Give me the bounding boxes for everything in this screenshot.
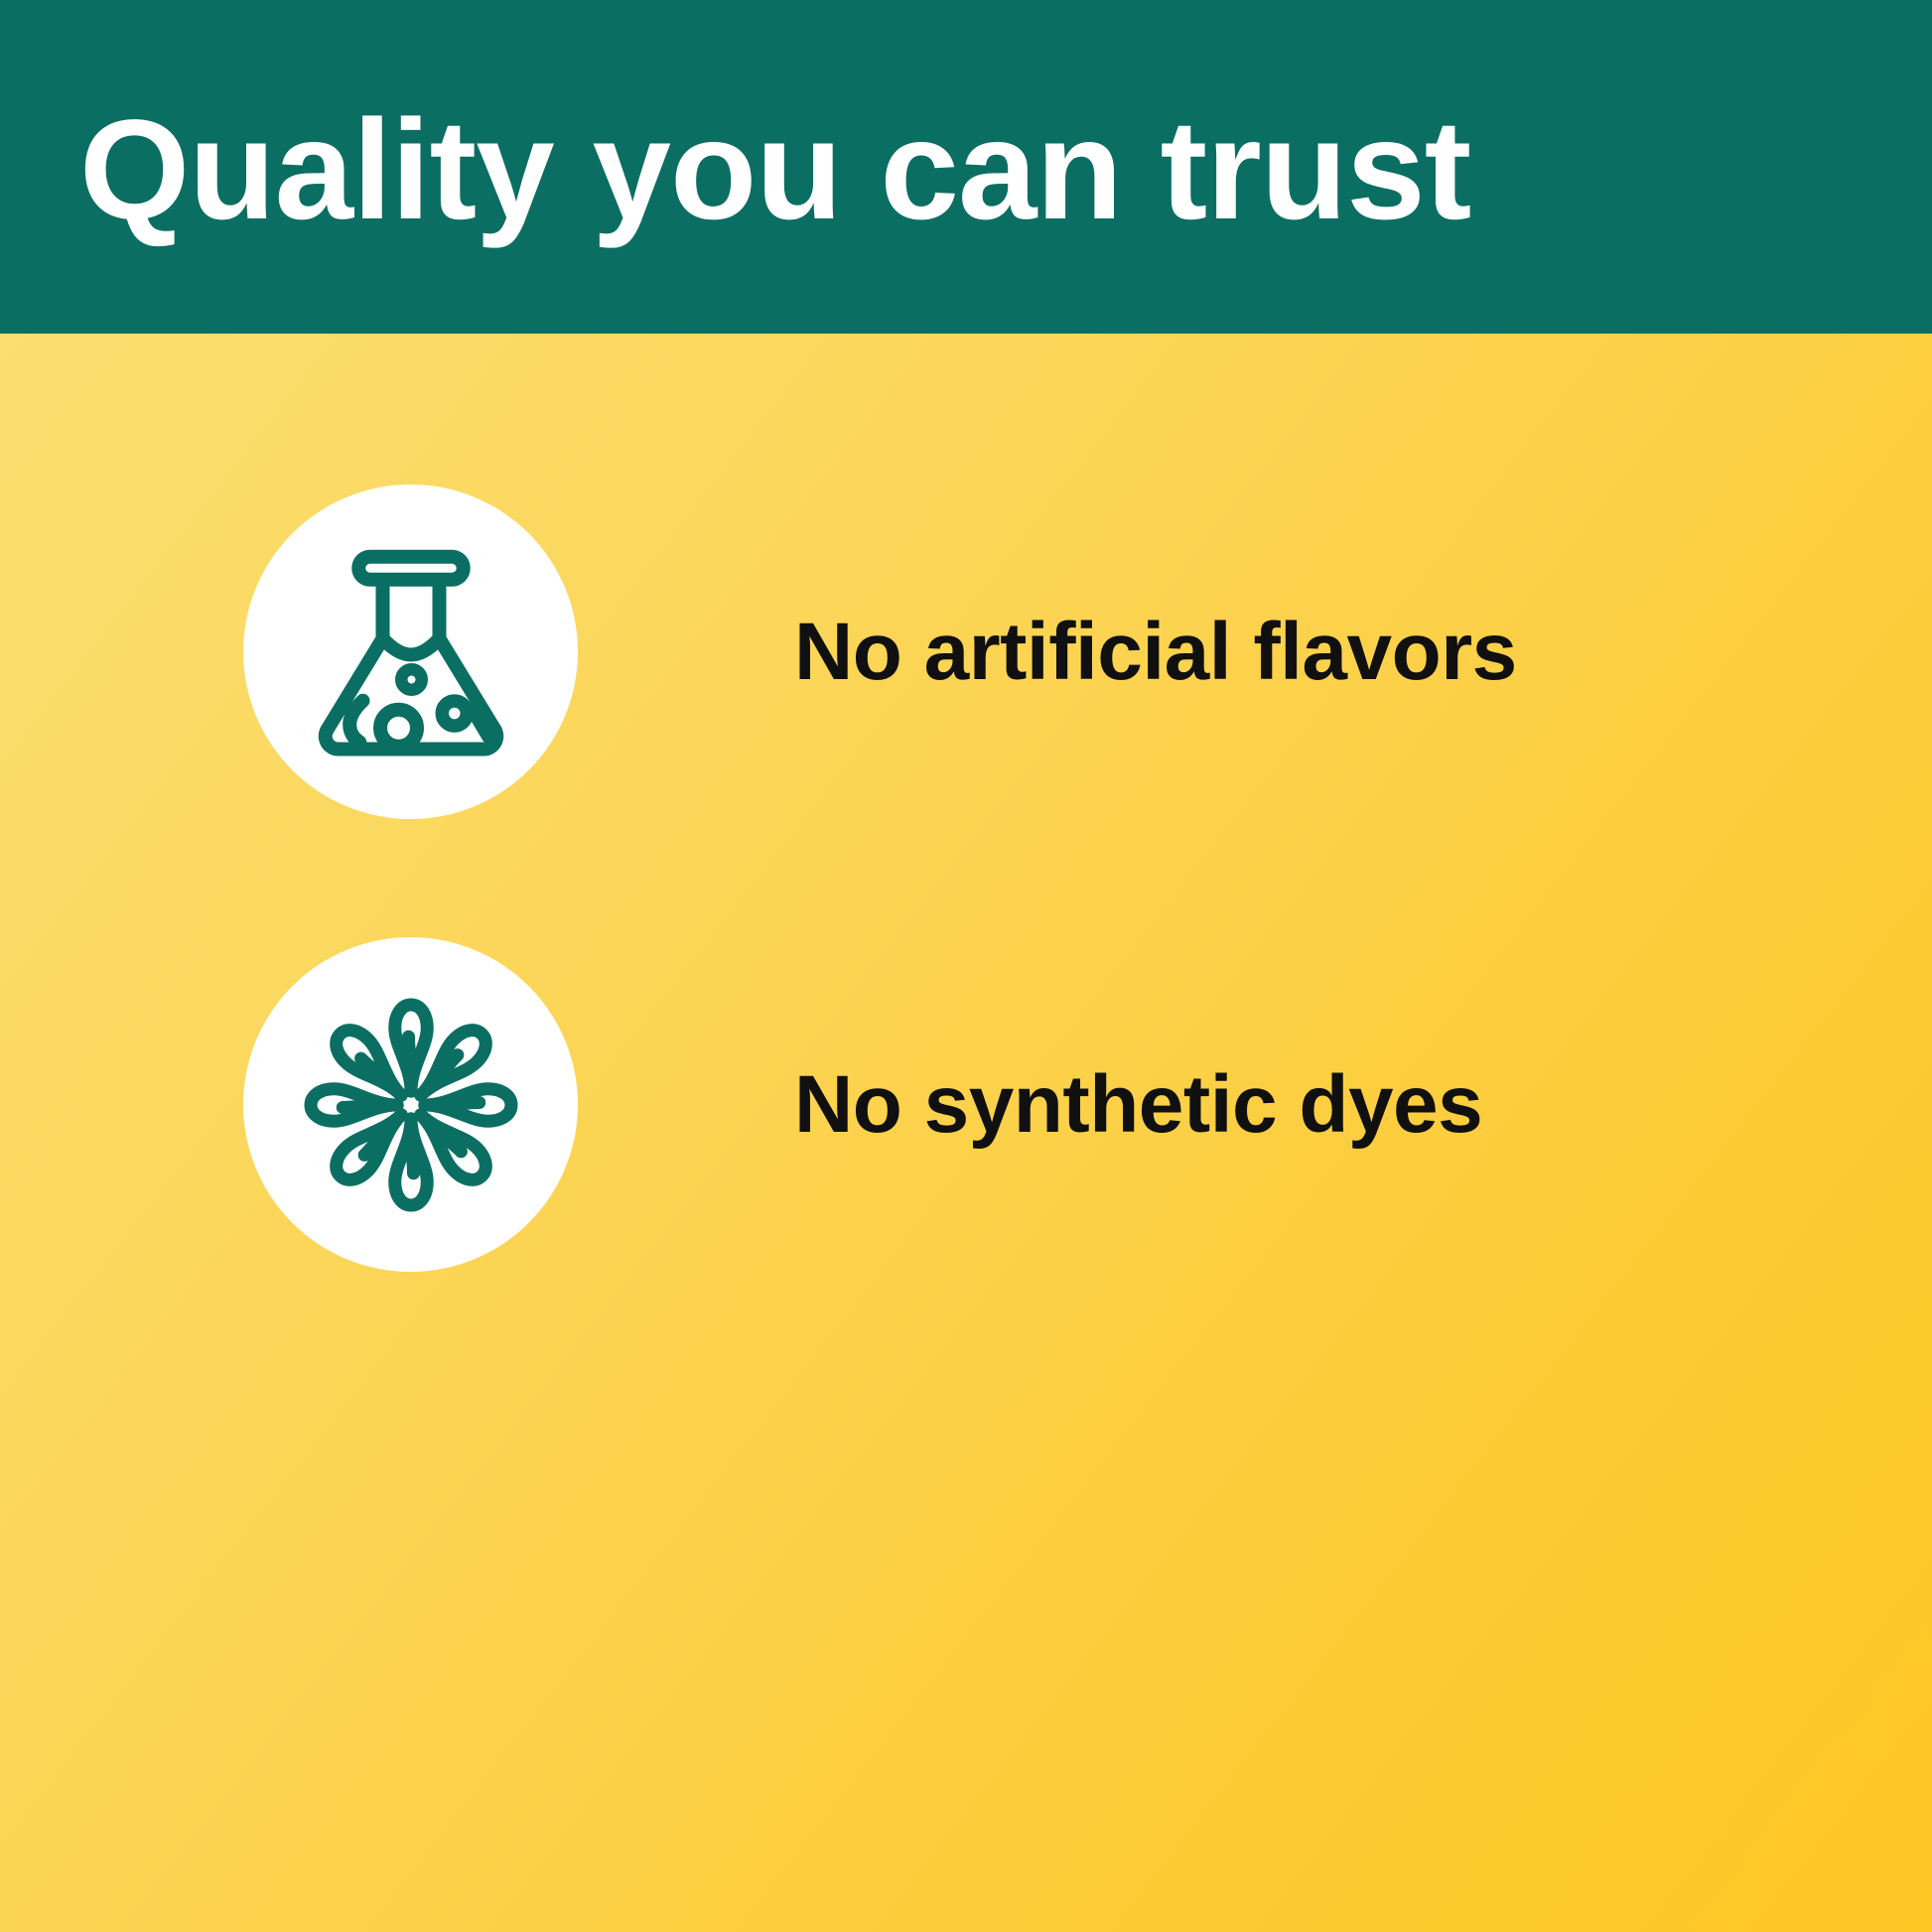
feature-icon-badge [243,484,578,819]
flask-icon [287,528,535,776]
feature-icon-badge [243,937,578,1272]
feature-label: No synthetic dyes [794,937,1482,1272]
page-title: Quality you can trust [79,0,1866,334]
feature-row: No artificial flavors [0,484,1932,822]
header-band: Quality you can trust [0,0,1932,334]
feature-row: No synthetic dyes [0,937,1932,1275]
feature-label: No artificial flavors [794,484,1517,819]
promo-panel: Quality you can trust [0,0,1932,1932]
dye-splash-icon [287,981,535,1229]
